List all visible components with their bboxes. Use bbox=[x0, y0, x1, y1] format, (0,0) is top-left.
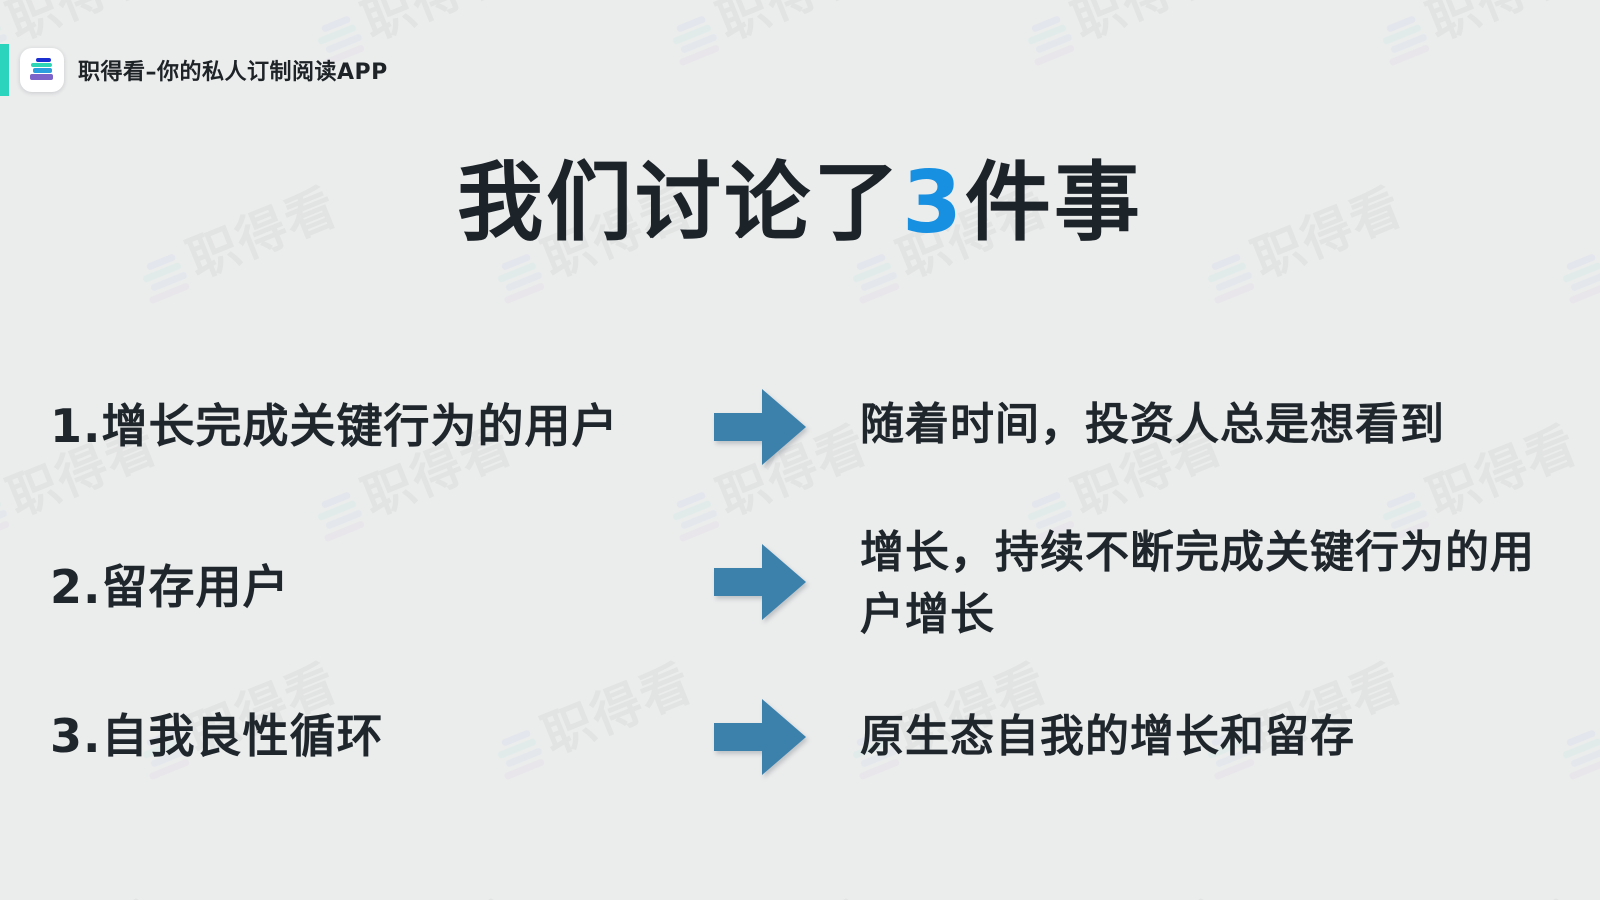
page-title: 我们讨论了3件事 bbox=[0, 156, 1600, 251]
watermark-text: 职得看 bbox=[356, 0, 519, 48]
watermark-text: 职得看 bbox=[1421, 895, 1584, 900]
arrow-cell bbox=[660, 699, 860, 775]
description-text: 原生态自我的增长和留存 bbox=[860, 706, 1560, 768]
watermark-text: 职得看 bbox=[1066, 895, 1229, 900]
watermark-text: 职得看 bbox=[711, 0, 874, 48]
content-rows: 1.增长完成关键行为的用户 随着时间，投资人总是想看到 2.留存用户 增长 bbox=[0, 352, 1600, 812]
book-stack-watermark-icon bbox=[1017, 10, 1083, 74]
book-stack-watermark-icon bbox=[132, 248, 198, 312]
page-title-prefix: 我们讨论了 bbox=[457, 153, 902, 253]
book-stack-watermark-icon bbox=[1372, 10, 1438, 74]
brand-header: 职得看–你的私人订制阅读APP bbox=[0, 42, 388, 98]
list-item-label: 2.留存用户 bbox=[50, 559, 660, 617]
page-title-number: 3 bbox=[902, 153, 965, 253]
watermark-tile: 职得看 bbox=[1014, 862, 1356, 900]
book-stack-bar-4 bbox=[30, 74, 53, 80]
content-row: 1.增长完成关键行为的用户 随着时间，投资人总是想看到 bbox=[0, 352, 1600, 502]
brand-accent-bar bbox=[0, 44, 9, 96]
description-text: 增长，持续不断完成关键行为的用户增长 bbox=[860, 522, 1560, 647]
description-cell-3: 原生态自我的增长和留存 bbox=[860, 706, 1600, 768]
slide-canvas: 职得看职得看职得看职得看职得看职得看职得看职得看职得看职得看职得看职得看职得看职… bbox=[0, 0, 1600, 900]
book-stack-watermark-icon bbox=[662, 10, 728, 74]
content-row: 2.留存用户 增长，持续不断完成关键行为的用户增长 bbox=[0, 502, 1600, 662]
watermark-text: 职得看 bbox=[1, 895, 164, 900]
book-stack-bar-3 bbox=[33, 68, 52, 73]
description-cell-1: 随着时间，投资人总是想看到 bbox=[860, 396, 1600, 458]
list-item-3: 3.自我良性循环 bbox=[0, 708, 660, 766]
watermark-tile: 职得看 bbox=[304, 862, 646, 900]
description-cell-2: 增长，持续不断完成关键行为的用户增长 bbox=[860, 520, 1600, 645]
watermark-tile: 职得看 bbox=[1369, 862, 1600, 900]
watermark-text: 职得看 bbox=[1421, 0, 1584, 48]
book-stack-watermark-icon bbox=[1552, 248, 1600, 312]
content-row: 3.自我良性循环 原生态自我的增长和留存 bbox=[0, 662, 1600, 812]
watermark-text: 职得看 bbox=[356, 895, 519, 900]
right-arrow-icon bbox=[714, 544, 806, 620]
watermark-text: 职得看 bbox=[711, 895, 874, 900]
arrow-cell bbox=[660, 544, 860, 620]
list-item-2: 2.留存用户 bbox=[0, 553, 660, 611]
book-stack-icon bbox=[20, 48, 64, 92]
description-text: 随着时间，投资人总是想看到 bbox=[860, 394, 1560, 456]
brand-title: 职得看–你的私人订制阅读APP bbox=[78, 54, 388, 86]
list-item-label: 3.自我良性循环 bbox=[50, 708, 660, 766]
watermark-tile: 职得看 bbox=[659, 862, 1001, 900]
book-stack-watermark-icon bbox=[842, 248, 908, 312]
watermark-tile: 职得看 bbox=[1369, 0, 1600, 180]
book-stack-bar-2 bbox=[31, 63, 52, 67]
right-arrow-icon bbox=[714, 699, 806, 775]
book-stack-watermark-icon bbox=[1197, 248, 1263, 312]
book-stack-watermark-icon bbox=[487, 248, 553, 312]
page-title-suffix: 件事 bbox=[965, 153, 1143, 253]
arrow-cell bbox=[660, 389, 860, 465]
book-stack-bar-1 bbox=[36, 58, 51, 62]
list-item-label: 1.增长完成关键行为的用户 bbox=[50, 398, 660, 456]
watermark-text: 职得看 bbox=[1, 0, 164, 48]
right-arrow-icon bbox=[714, 389, 806, 465]
watermark-text: 职得看 bbox=[1066, 0, 1229, 48]
list-item-1: 1.增长完成关键行为的用户 bbox=[0, 398, 660, 456]
watermark-tile: 职得看 bbox=[0, 862, 291, 900]
